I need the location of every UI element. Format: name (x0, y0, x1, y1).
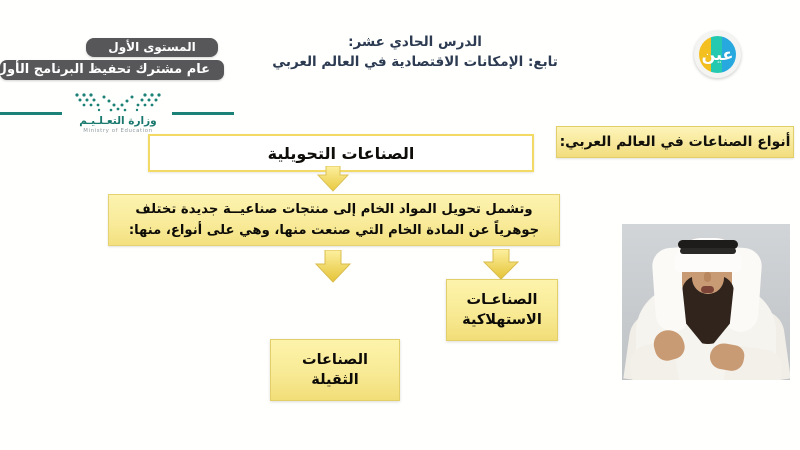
branch-box-consumer-industries: الصناعـات الاستهلاكية (446, 279, 558, 341)
down-arrow-icon (316, 166, 350, 192)
presenter-mouth (701, 286, 714, 293)
definition-paragraph-box: وتشمل تحويل المواد الخام إلى منتجات صناع… (108, 194, 560, 246)
ain-channel-logo: عين (694, 31, 741, 78)
divider-left (0, 112, 62, 115)
level-badges: المستوى الأول عام مشترك تحفيظ البرنامج ا… (0, 38, 216, 80)
lesson-header: الدرس الحادي عشر: تابع: الإمكانات الاقتص… (250, 32, 580, 73)
branch-box-heavy-industries: الصناعات الثقيلة (270, 339, 400, 401)
ain-logo-text: عين (699, 36, 736, 73)
presenter-video (622, 224, 790, 380)
level-badge: المستوى الأول (86, 38, 218, 57)
program-badge: عام مشترك تحفيظ البرنامج الأول 1 (0, 60, 224, 80)
section-title-box: أنواع الصناعات في العالم العربي: (556, 126, 794, 158)
down-arrow-icon (481, 249, 521, 281)
lesson-slide: المستوى الأول عام مشترك تحفيظ البرنامج ا… (0, 0, 800, 450)
branch-line-1: الصناعـات (462, 290, 542, 310)
presenter-nose (704, 272, 711, 282)
branch-line-2: الاستهلاكية (462, 310, 542, 330)
ministry-name-arabic: وزارة التعـلـيـم (58, 115, 178, 127)
ministry-of-education-logo: وزارة التعـلـيـم Ministry of Education (58, 92, 178, 134)
divider-right (172, 112, 234, 115)
branch-line-2: الثقيلة (302, 370, 368, 390)
ain-logo-bands: عين (699, 36, 736, 73)
presenter-igal-lower (680, 248, 736, 254)
branch-line-1: الصناعات (302, 350, 368, 370)
lesson-number: الدرس الحادي عشر: (250, 32, 580, 52)
down-arrow-icon (313, 250, 353, 284)
lesson-title: تابع: الإمكانات الاقتصادية في العالم الع… (250, 52, 580, 73)
ministry-emblem-icon (63, 92, 173, 114)
